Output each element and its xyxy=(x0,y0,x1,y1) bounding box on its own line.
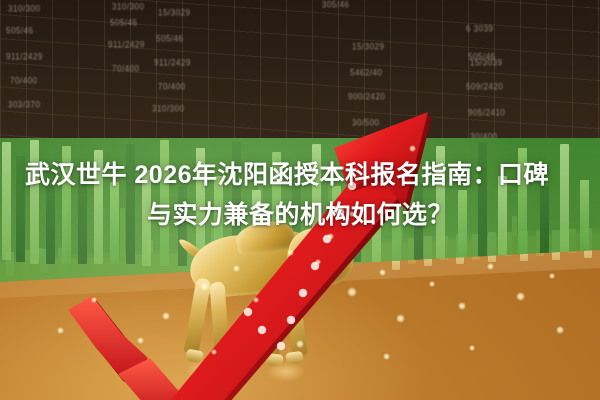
sparkle-bokeh xyxy=(549,273,555,279)
sparkle-bokeh xyxy=(409,145,416,152)
sparkle-bokeh xyxy=(396,314,405,323)
headline: 武汉世牛 2026年沈阳函授本科报名指南：口碑 与实力兼备的机构如何选？ xyxy=(0,155,600,235)
sparkle-bokeh xyxy=(516,292,525,301)
sparkle-bokeh xyxy=(347,287,357,297)
headline-line-1: 武汉世牛 2026年沈阳函授本科报名指南：口碑 xyxy=(0,155,600,195)
sparkle-bokeh xyxy=(383,353,390,360)
sparkle-bokeh xyxy=(315,259,321,265)
sparkle-bokeh xyxy=(233,265,240,272)
headline-line-2: 与实力兼备的机构如何选？ xyxy=(0,195,600,235)
sparkle-bokeh xyxy=(487,263,494,270)
sparkle-bokeh xyxy=(287,249,294,256)
sparkle-bokeh xyxy=(91,297,97,303)
sparkle-bokeh xyxy=(137,337,144,344)
sparkle-bokeh xyxy=(429,281,435,287)
sparkle-bokeh xyxy=(211,349,217,355)
sparkle-bokeh xyxy=(57,327,64,334)
sparkle-bokeh xyxy=(200,282,209,291)
sparkle-bokeh xyxy=(162,312,170,320)
sparkle-bokeh xyxy=(556,326,564,334)
sparkle-bokeh xyxy=(253,297,259,303)
sparkle-bokeh xyxy=(469,345,475,351)
sparkle-bokeh xyxy=(458,302,466,310)
promo-banner: 310/300505/46911/242970/400303/370310/30… xyxy=(0,0,600,400)
sparkle-bokeh xyxy=(379,269,386,276)
sparkle-bokeh xyxy=(296,340,304,348)
